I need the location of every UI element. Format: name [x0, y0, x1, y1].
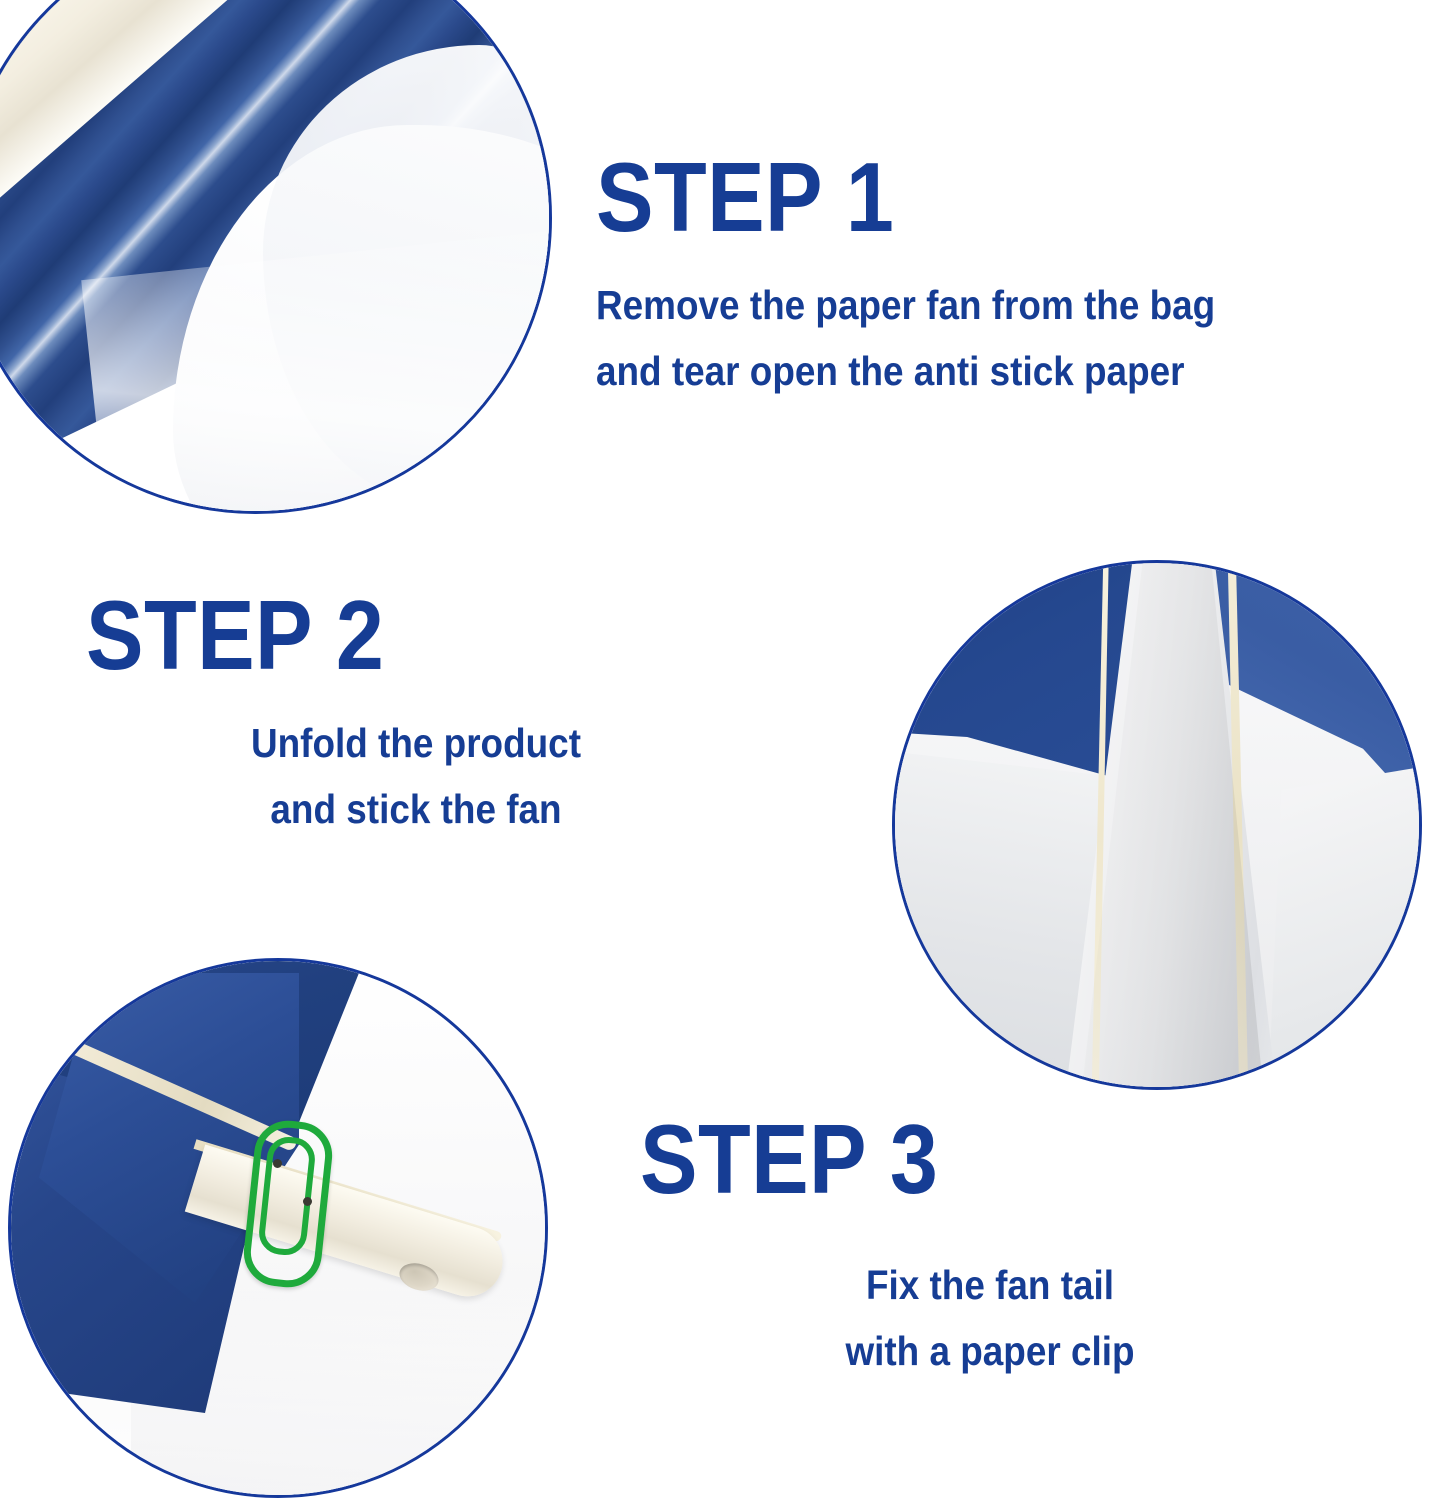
step-2-body-line-2: and stick the fan [119, 776, 713, 842]
step-2-text-block: STEP 2 Unfold the product and stick the … [86, 586, 746, 843]
step-3-text-block: STEP 3 Fix the fan tail with a paper cli… [640, 1110, 1340, 1385]
step-2-body: Unfold the product and stick the fan [119, 710, 713, 843]
step-3-title: STEP 3 [640, 1110, 1256, 1208]
step-2-photo [892, 560, 1422, 1090]
instruction-graphic: STEP 1 Remove the paper fan from the bag… [0, 0, 1434, 1500]
white-surface-right [1267, 753, 1419, 1087]
step-3-body-line-2: with a paper clip [675, 1318, 1305, 1384]
step-1-photo-content [0, 0, 549, 511]
clip-contact-point-lower [303, 1197, 312, 1206]
step-3-photo [8, 958, 548, 1498]
step-3-photo-content [11, 961, 545, 1495]
step-1-body-line-2: and tear open the anti stick paper [596, 338, 1215, 404]
step-2-title: STEP 2 [86, 586, 667, 684]
clip-contact-point-upper [273, 1159, 282, 1168]
step-1-text-block: STEP 1 Remove the paper fan from the bag… [596, 148, 1284, 405]
step-2-body-line-1: Unfold the product [119, 710, 713, 776]
step-1-body: Remove the paper fan from the bag and te… [596, 272, 1215, 405]
step-1-body-line-1: Remove the paper fan from the bag [596, 272, 1215, 338]
photo-highlight [81, 231, 549, 511]
step-2-photo-content [895, 563, 1419, 1087]
step-1-title: STEP 1 [596, 148, 1201, 246]
step-3-body: Fix the fan tail with a paper clip [675, 1252, 1305, 1385]
step-1-photo [0, 0, 552, 514]
step-3-body-line-1: Fix the fan tail [675, 1252, 1305, 1318]
